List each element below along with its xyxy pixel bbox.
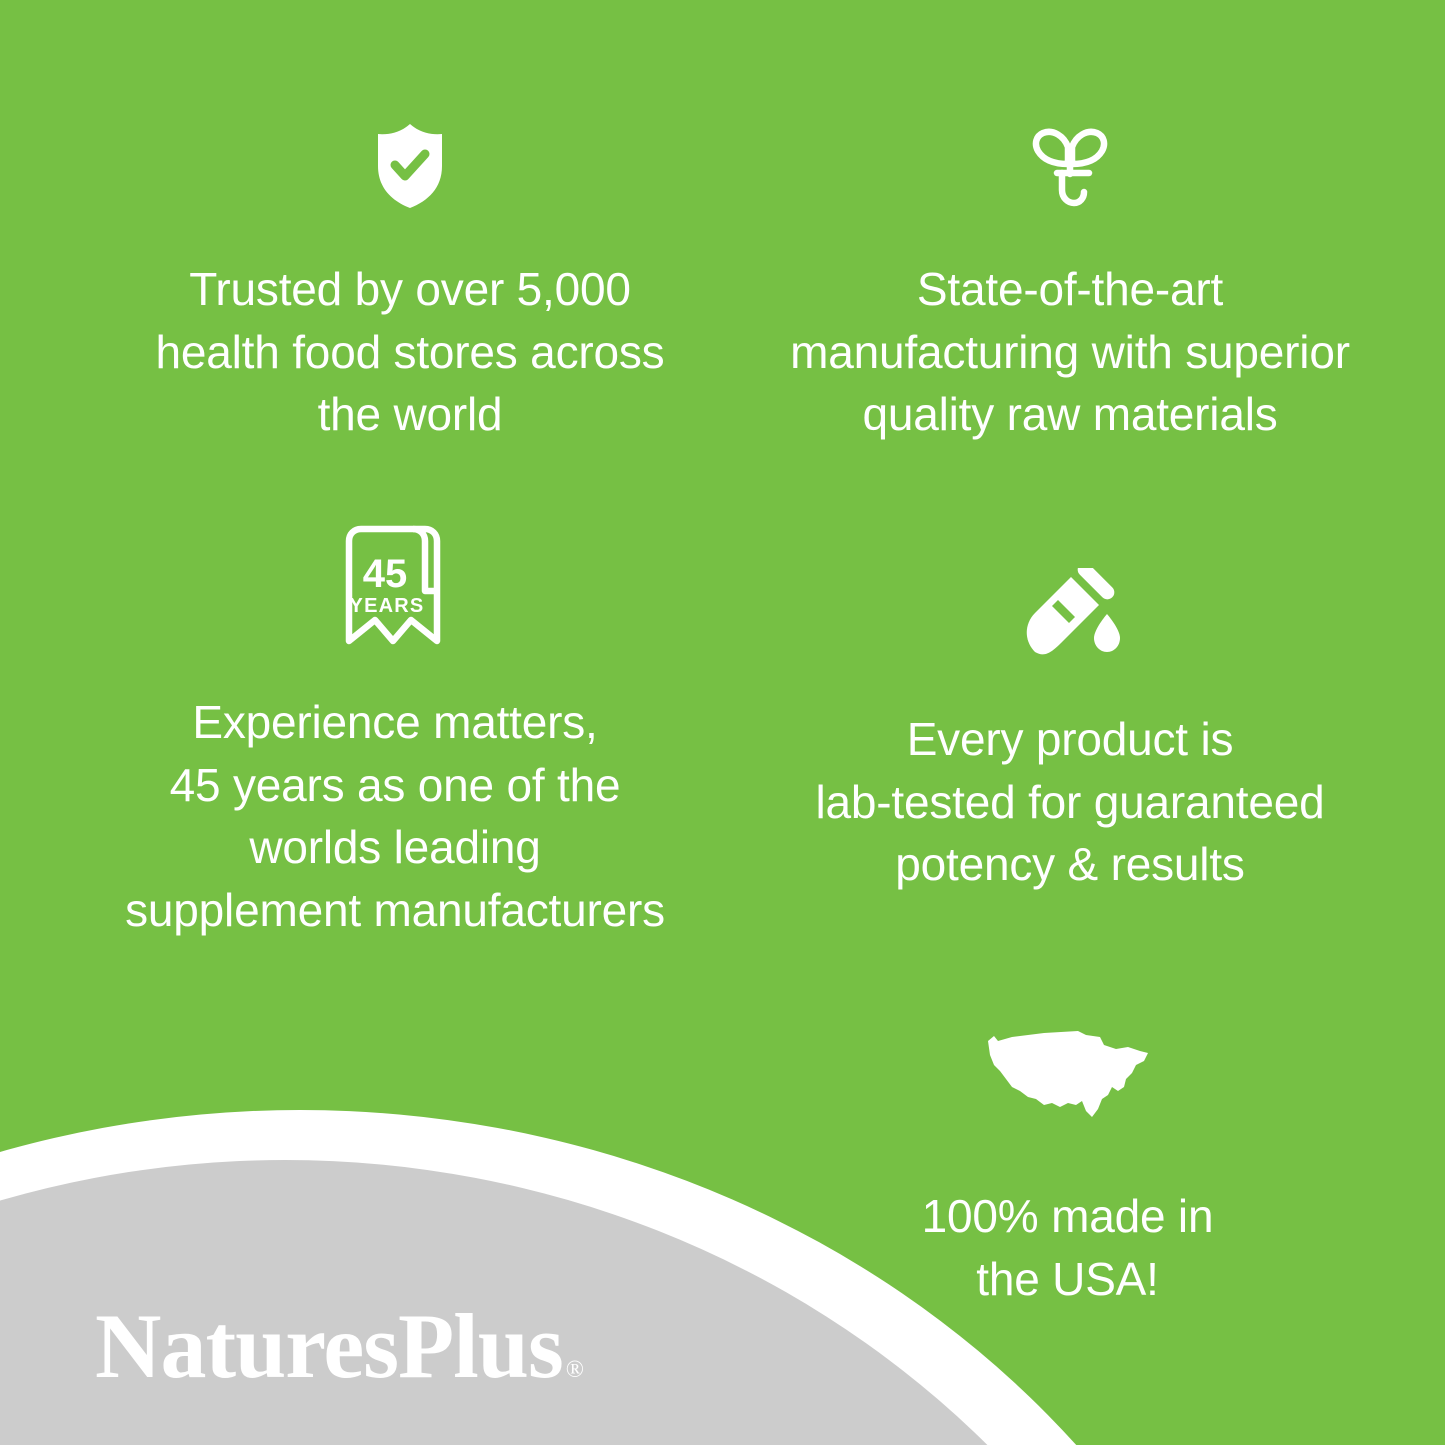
feature-icon-slot (1015, 560, 1125, 660)
anniversary-ribbon-icon: 45 YEARS (339, 525, 451, 645)
feature-icon-slot: 45 YEARS (339, 545, 451, 645)
feature-item-made-in-usa: 100% made in the USA! (795, 1025, 1340, 1310)
feature-item-manufacturing: State-of-the-art manufacturing with supe… (725, 110, 1415, 446)
feature-caption: 100% made in the USA! (922, 1185, 1214, 1310)
registered-trademark-symbol: ® (563, 1358, 584, 1392)
feature-caption: Every product is lab-tested for guarante… (815, 708, 1324, 896)
brand-logo: NaturesPlus ® (95, 1300, 584, 1392)
feature-caption: Trusted by over 5,000 health food stores… (156, 258, 665, 446)
feature-icon-slot (982, 1025, 1154, 1125)
test-tube-drop-icon (1015, 568, 1125, 660)
usa-map-icon (982, 1025, 1154, 1125)
feature-grid: Trusted by over 5,000 health food stores… (0, 0, 1445, 1445)
feature-item-lab-tested: Every product is lab-tested for guarante… (725, 560, 1415, 896)
feature-item-trusted-stores: Trusted by over 5,000 health food stores… (90, 110, 730, 446)
sprout-test-tube-icon (1024, 118, 1116, 210)
feature-item-experience: 45 YEARS Experience matters, 45 years as… (75, 545, 715, 941)
feature-caption: State-of-the-art manufacturing with supe… (790, 258, 1350, 446)
promo-graphic: Trusted by over 5,000 health food stores… (0, 0, 1445, 1445)
badge-label: YEARS (350, 595, 425, 617)
feature-icon-slot (1024, 110, 1116, 210)
shield-check-icon (374, 122, 446, 210)
brand-logo-wordmark: NaturesPlus (95, 1300, 563, 1392)
feature-caption: Experience matters, 45 years as one of t… (125, 691, 665, 941)
feature-icon-slot (374, 110, 446, 210)
badge-number: 45 (363, 552, 408, 596)
